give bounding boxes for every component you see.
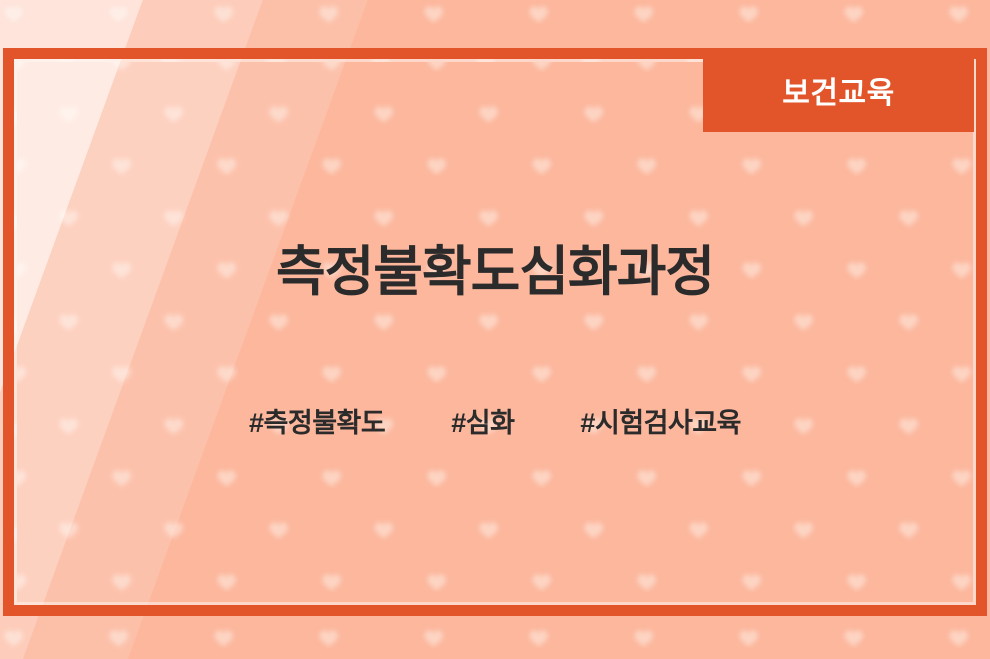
- course-title: 측정불확도심화과정: [276, 227, 714, 306]
- hashtag-row: #측정불확도 #심화 #시험검사교육: [249, 401, 741, 440]
- hashtag-item[interactable]: #심화: [451, 401, 514, 440]
- hashtag-item[interactable]: #시험검사교육: [580, 401, 741, 440]
- card-content: 측정불확도심화과정 #측정불확도 #심화 #시험검사교육: [17, 62, 973, 602]
- course-promo-card: 보건교육 측정불확도심화과정 #측정불확도 #심화 #시험검사교육: [0, 0, 990, 659]
- hashtag-item[interactable]: #측정불확도: [249, 401, 385, 440]
